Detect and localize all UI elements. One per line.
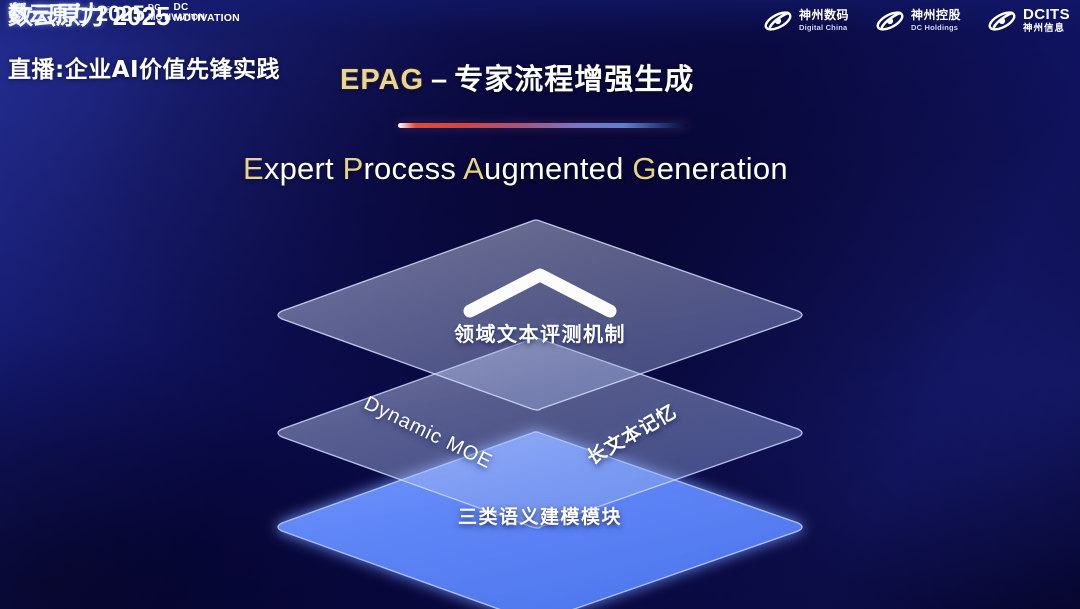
- watermark-dc-label: DC: [148, 3, 205, 12]
- footer-watermark-logo: 数云原力 ® 2025 DC MOTIVATION: [8, 3, 1072, 605]
- watermark-year: 2025: [96, 3, 145, 25]
- watermark-motivation-label: MOTIVATION: [148, 12, 205, 22]
- watermark-brand-cn: 数云原力: [8, 3, 88, 25]
- watermark-registered-icon: ®: [89, 4, 95, 14]
- watermark-dc-motivation: DC MOTIVATION: [148, 3, 205, 22]
- slide-canvas: 数云原力 ® 2025 DC MOTIVATION 直播:企业AI价值先锋实践 …: [0, 0, 1080, 609]
